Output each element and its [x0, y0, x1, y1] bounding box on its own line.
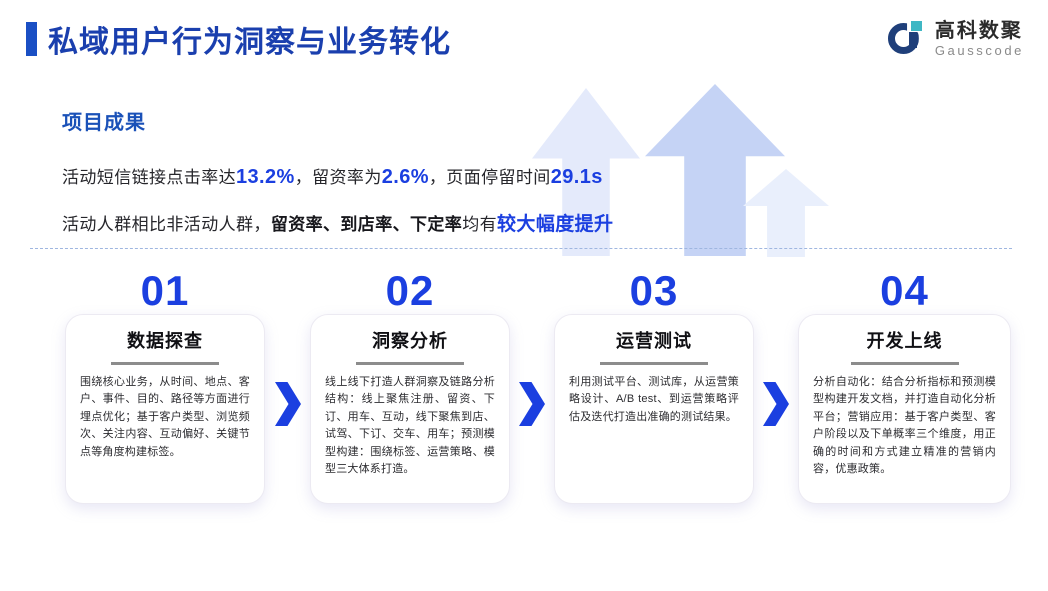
process-steps: 01 数据探查 围绕核心业务，从时间、地点、客户、事件、目的、路径等方面进行埋点…: [0, 270, 1048, 520]
metric-value-lead-rate: 2.6%: [382, 166, 429, 188]
project-results-block: 项目成果 活动短信链接点击率达13.2%，留资率为2.6%，页面停留时间29.1…: [62, 106, 613, 236]
step-description: 线上线下打造人群洞察及链路分析结构：线上聚焦注册、留资、下订、用车、互动，线下聚…: [325, 374, 495, 478]
step-description: 分析自动化：结合分析指标和预测模型构建开发文档，并打造自动化分析平台；营销应用：…: [813, 374, 996, 478]
step-card-01[interactable]: 01 数据探查 围绕核心业务，从时间、地点、客户、事件、目的、路径等方面进行埋点…: [65, 314, 265, 504]
step-title: 洞察分析: [311, 327, 509, 353]
logo-name-cn: 高科数聚: [935, 21, 1024, 41]
slide-root: 私域用户行为洞察与业务转化 高科数聚 Gausscode 项目成果 活动短信链接…: [0, 0, 1048, 591]
metric-label-dwell-time: ，页面停留时间: [429, 168, 551, 187]
comparison-metric-names: 留资率、到店率、下定率: [271, 215, 462, 234]
logo-name-en: Gausscode: [935, 44, 1024, 57]
title-accent-bar: [26, 22, 37, 56]
step-description: 围绕核心业务，从时间、地点、客户、事件、目的、路径等方面进行埋点优化；基于客户类…: [80, 374, 250, 461]
step-card-02[interactable]: 02 洞察分析 线上线下打造人群洞察及链路分析结构：线上聚焦注册、留资、下订、用…: [310, 314, 510, 504]
logo-mark-icon: [888, 20, 926, 58]
chevron-right-icon: [763, 382, 789, 426]
step-number: 02: [311, 267, 509, 315]
chevron-right-icon: [275, 382, 301, 426]
decorative-up-arrow-icon: [743, 169, 829, 257]
decorative-up-arrow-icon: [645, 84, 785, 256]
results-heading: 项目成果: [62, 106, 613, 135]
step-card-03[interactable]: 03 运营测试 利用测试平台、测试库，从运营策略设计、A/B test、到运营策…: [554, 314, 754, 504]
step-number: 01: [66, 267, 264, 315]
step-card-04[interactable]: 04 开发上线 分析自动化：结合分析指标和预测模型构建开发文档，并打造自动化分析…: [798, 314, 1011, 504]
step-divider: [851, 362, 959, 365]
step-divider: [356, 362, 464, 365]
step-divider: [111, 362, 219, 365]
page-title: 私域用户行为洞察与业务转化: [48, 17, 451, 61]
results-metrics-line: 活动短信链接点击率达13.2%，留资率为2.6%，页面停留时间29.1s: [62, 163, 613, 189]
comparison-result-highlight: 较大幅度提升: [497, 214, 613, 235]
results-comparison-line: 活动人群相比非活动人群，留资率、到店率、下定率均有较大幅度提升: [62, 209, 613, 236]
step-title: 开发上线: [799, 327, 1010, 353]
comparison-lead-text: 活动人群相比非活动人群，: [62, 215, 271, 234]
section-divider: [30, 248, 1012, 249]
metric-label-lead-rate: ，留资率为: [295, 168, 382, 187]
metric-label-click-rate: 活动短信链接点击率达: [62, 168, 236, 187]
comparison-mid-text: 均有: [462, 215, 497, 234]
step-title: 数据探查: [66, 327, 264, 353]
step-number: 03: [555, 267, 753, 315]
logo-text: 高科数聚 Gausscode: [935, 21, 1024, 57]
chevron-right-icon: [519, 382, 545, 426]
metric-value-dwell-time: 29.1s: [551, 166, 603, 188]
logo-bar-shape: [909, 32, 917, 48]
logo-square-accent-shape: [911, 21, 922, 31]
metric-value-click-rate: 13.2%: [236, 166, 295, 188]
brand-logo: 高科数聚 Gausscode: [888, 20, 1024, 58]
step-description: 利用测试平台、测试库，从运营策略设计、A/B test、到运营策略评估及迭代打造…: [569, 374, 739, 426]
step-divider: [600, 362, 708, 365]
step-number: 04: [799, 267, 1010, 315]
slide-header: 私域用户行为洞察与业务转化 高科数聚 Gausscode: [0, 0, 1048, 78]
step-title: 运营测试: [555, 327, 753, 353]
